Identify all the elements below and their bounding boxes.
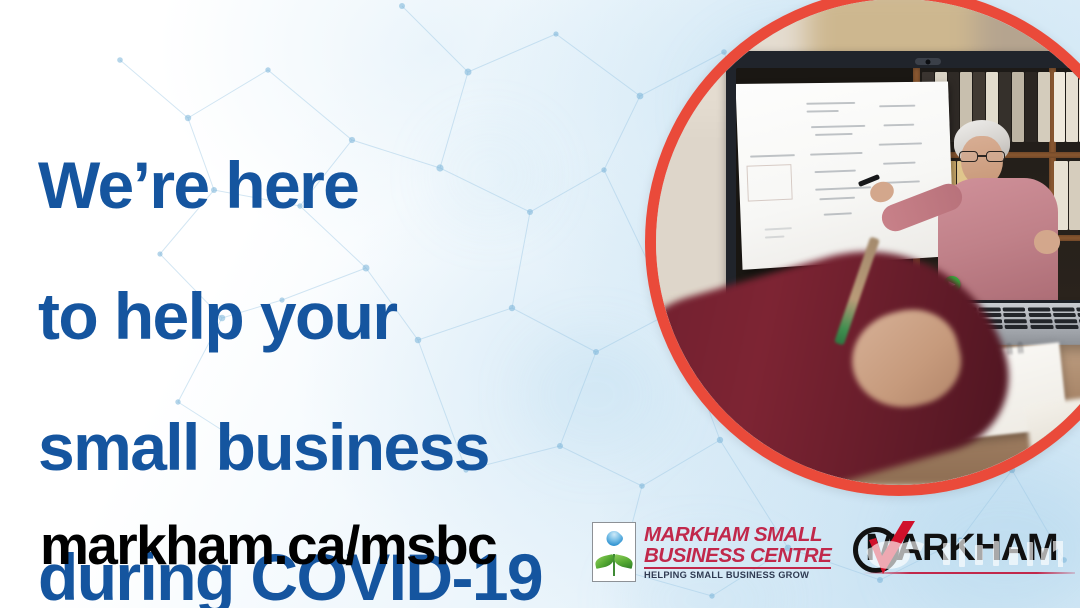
hero-photo-circle: + ☎ ▶	[645, 0, 1080, 496]
headline-line-3: small business	[38, 415, 638, 480]
headline-line-1: We’re here	[38, 153, 638, 218]
sprout-icon	[593, 546, 635, 576]
msbc-divider	[644, 567, 831, 569]
glasses-icon	[959, 151, 1005, 162]
presenter-figure	[932, 120, 1064, 300]
markham-logo[interactable]: MARKHAM	[847, 521, 1079, 583]
msbc-line-1: MARKHAM SMALL	[644, 524, 831, 545]
presenter-hand-right	[1034, 230, 1060, 254]
whiteboard	[736, 82, 954, 270]
website-url[interactable]: markham.ca/msbc	[40, 518, 496, 573]
msbc-line-2: BUSINESS CENTRE	[644, 545, 831, 566]
water-drop-and-sprout-icon	[592, 522, 636, 582]
covid-support-banner: We’re here to help your small business d…	[0, 0, 1080, 608]
msbc-tagline: HELPING SMALL BUSINESS GROW	[644, 570, 831, 580]
webcam-icon	[915, 58, 941, 65]
msbc-wordmark: MARKHAM SMALL BUSINESS CENTRE HELPING SM…	[644, 524, 831, 581]
headline-line-2: to help your	[38, 284, 638, 349]
markham-check-icon	[863, 520, 921, 576]
hero-photo: + ☎ ▶	[656, 0, 1080, 485]
logo-row: MARKHAM SMALL BUSINESS CENTRE HELPING SM…	[592, 521, 1079, 583]
msbc-logo[interactable]: MARKHAM SMALL BUSINESS CENTRE HELPING SM…	[592, 522, 831, 582]
